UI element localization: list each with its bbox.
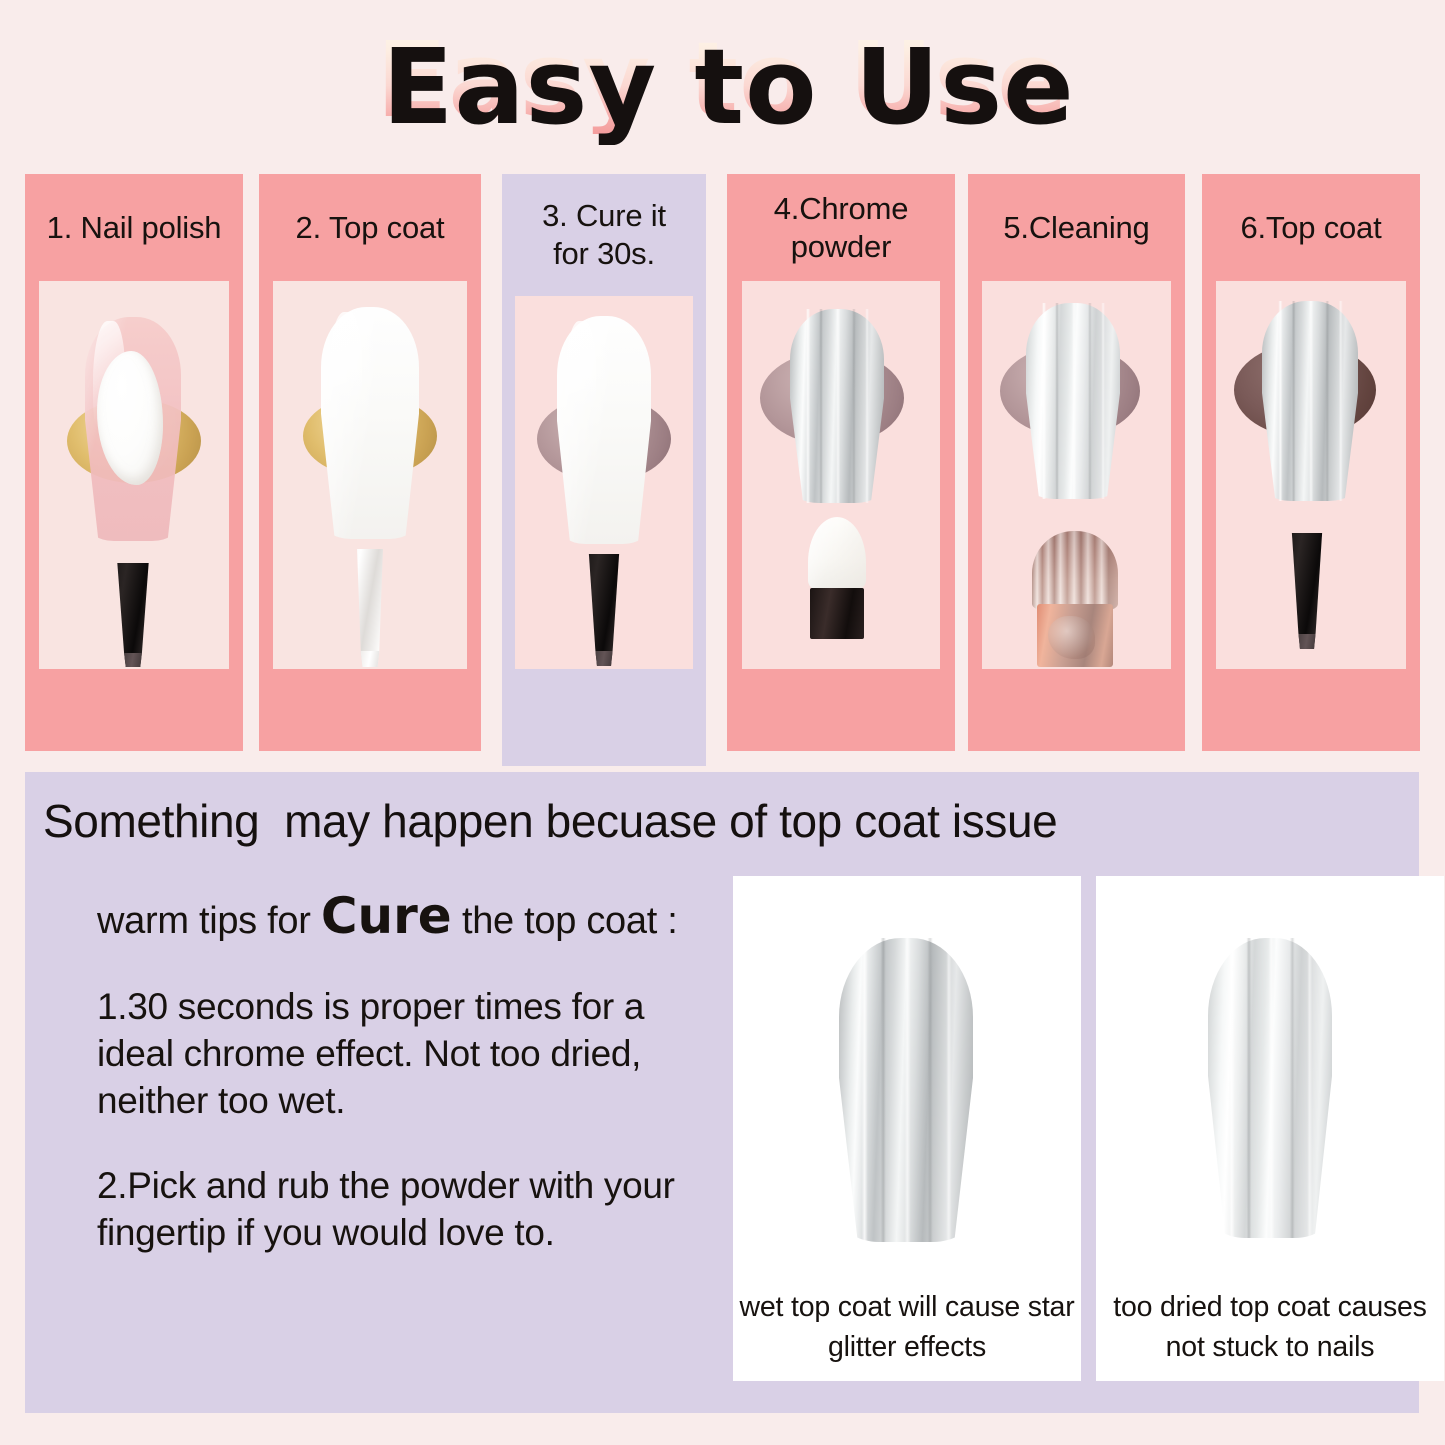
step-card-2: 2. Top coat [259,174,481,751]
chrome-nail-glittery [839,938,973,1242]
tip-item-2: 2.Pick and rub the powder with your fing… [97,1162,707,1256]
section-heading: Something may happen becuase of top coat… [43,794,1403,848]
lead-emphasis-cure: Cure [321,887,452,945]
step-1-image-panel [39,281,229,669]
top-coat-brush-handle [343,549,397,667]
step-2-label: 2. Top coat [259,174,481,281]
white-nail-tip [321,307,419,539]
step-3-image-panel [515,296,693,669]
brush-handle-cap [120,653,147,668]
step-4-label: 4.Chrome powder [727,174,955,281]
final-top-coat-scene [1216,281,1406,669]
step-card-5: 5.Cleaning [968,174,1185,751]
step-5-image-panel [982,281,1171,669]
step-6-image-panel [1216,281,1406,669]
tip-item-1: 1.30 seconds is proper times for a ideal… [97,983,707,1124]
lead-text-before: warm tips for [97,900,321,942]
powder-applicator [808,517,866,639]
troubleshooting-section: Something may happen becuase of top coat… [25,772,1419,1413]
step-4-image-panel [742,281,940,669]
polish-brush-handle [577,554,631,666]
photo-card-dried-top-coat: too dried top coat causes not stuck to n… [1096,876,1444,1381]
top-coat-white-nail-scene [273,281,467,669]
chrome-streak-overlay [1026,303,1120,499]
page-title: Easy to Use [376,26,1068,134]
warm-tips-lead: warm tips for Cure the top coat : [97,892,707,945]
photo-card-wet-top-coat: wet top coat will cause star glitter eff… [733,876,1081,1381]
applicator-stem [810,588,865,639]
chrome-powder-applicator-scene [742,281,940,669]
brush-handle-cap [591,651,617,667]
chrome-nail-tip [1262,301,1358,501]
dust-brush [1032,531,1118,667]
chrome-nail-pale [1208,938,1332,1238]
steps-row: 1. Nail polish 2. Top coat [0,174,1445,774]
cured-white-nail-tip [557,316,651,544]
infographic-page: Easy to Use 1. Nail polish [0,0,1445,1445]
brush-bristles [1032,531,1118,610]
page-title-container: Easy to Use [0,26,1445,144]
step-2-image-panel [273,281,467,669]
photo-caption-wet-top-coat: wet top coat will cause star glitter eff… [739,1287,1075,1367]
dust-brush-cleaning-scene [982,281,1171,669]
step-1-label: 1. Nail polish [25,174,243,281]
step-card-3: 3. Cure it for 30s. [502,174,706,766]
step-3-label: 3. Cure it for 30s. [502,174,706,296]
step-5-label: 5.Cleaning [968,174,1185,281]
warm-tips-block: warm tips for Cure the top coat : 1.30 s… [97,892,707,1294]
step-6-label: 6.Top coat [1202,174,1420,281]
brush-handle-cap [357,651,383,668]
silicone-applicator-tip [808,517,866,593]
chrome-nail-tip [1026,303,1120,499]
top-coat-brush-handle [1280,533,1334,649]
brush-ferrule [1037,604,1113,667]
step-card-4: 4.Chrome powder [727,174,955,751]
nail-gloss-highlight [329,312,362,451]
chrome-streak-overlay [839,938,973,1242]
nail-polish-application-scene [39,281,229,669]
chrome-streak-overlay [1262,301,1358,501]
polish-brush-handle [105,563,161,667]
chrome-streak-overlay [790,309,884,503]
cured-white-nail-scene [515,296,693,669]
photo-caption-dried-top-coat: too dried top coat causes not stuck to n… [1102,1287,1438,1367]
chrome-nail-tip [790,309,884,503]
step-card-6: 6.Top coat [1202,174,1420,751]
chrome-streak-overlay [1208,938,1332,1238]
lead-text-after: the top coat : [452,900,678,942]
step-card-1: 1. Nail polish [25,174,243,751]
nail-gloss-highlight [565,321,597,458]
brush-handle-cap [1294,634,1320,650]
